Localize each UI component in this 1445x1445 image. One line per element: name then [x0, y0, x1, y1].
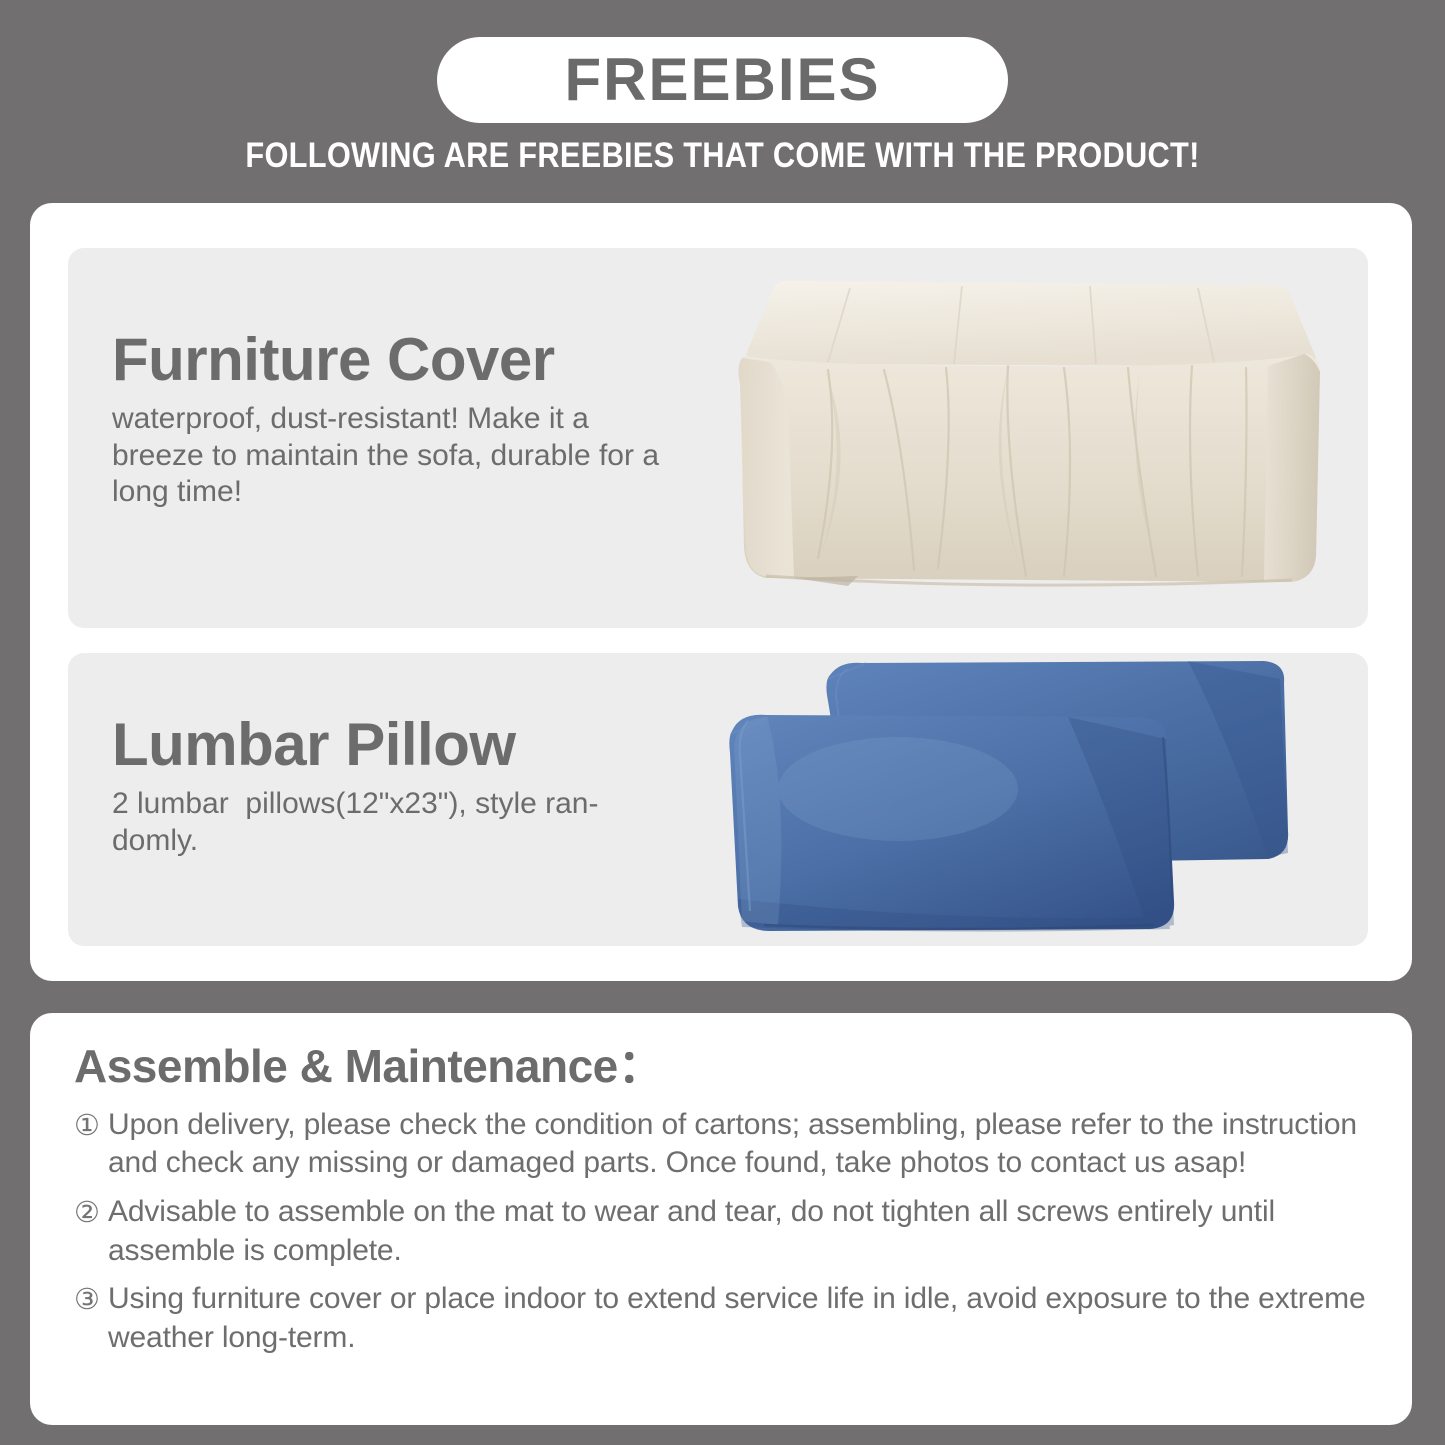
list-item: ② Advisable to assemble on the mat to we… — [74, 1193, 1374, 1270]
list-item: ③ Using furniture cover or place indoor … — [74, 1280, 1374, 1357]
lumbar-pillow-description: 2 lumbar pillows(12"x23"), style ran-dom… — [112, 786, 672, 859]
furniture-cover-image — [708, 258, 1348, 618]
maintenance-heading: Assemble & Maintenance： — [74, 1041, 1374, 1092]
freebies-card: Furniture Cover waterproof, dust-resista… — [30, 203, 1412, 981]
maintenance-list: ① Upon delivery, please check the condit… — [74, 1106, 1374, 1358]
list-text-1: Upon delivery, please check the conditio… — [108, 1106, 1374, 1183]
page-title: FREEBIES — [564, 50, 880, 110]
list-item: ① Upon delivery, please check the condit… — [74, 1106, 1374, 1183]
freebie-panel-furniture-cover: Furniture Cover waterproof, dust-resista… — [68, 248, 1368, 628]
furniture-cover-title: Furniture Cover — [112, 328, 672, 391]
page-subtitle: FOLLOWING ARE FREEBIES THAT COME WITH TH… — [87, 136, 1359, 176]
freebies-title-badge: FREEBIES — [437, 37, 1008, 123]
furniture-cover-text-block: Furniture Cover waterproof, dust-resista… — [112, 328, 672, 511]
page-header: FREEBIES FOLLOWING ARE FREEBIES THAT COM… — [0, 0, 1445, 195]
furniture-cover-description: waterproof, dust-resistant! Make it a br… — [112, 401, 672, 511]
lumbar-pillow-image — [708, 653, 1348, 946]
lumbar-pillow-title: Lumbar Pillow — [112, 713, 672, 776]
lumbar-pillow-text-block: Lumbar Pillow 2 lumbar pillows(12"x23"),… — [112, 713, 672, 859]
maintenance-content: Assemble & Maintenance： ① Upon delivery,… — [74, 1041, 1374, 1368]
maintenance-card: Assemble & Maintenance： ① Upon delivery,… — [30, 1013, 1412, 1425]
list-text-2: Advisable to assemble on the mat to wear… — [108, 1193, 1374, 1270]
freebie-panel-lumbar-pillow: Lumbar Pillow 2 lumbar pillows(12"x23"),… — [68, 653, 1368, 946]
list-marker-3: ③ — [74, 1280, 108, 1319]
list-text-3: Using furniture cover or place indoor to… — [108, 1280, 1374, 1357]
list-marker-2: ② — [74, 1193, 108, 1232]
list-marker-1: ① — [74, 1106, 108, 1145]
